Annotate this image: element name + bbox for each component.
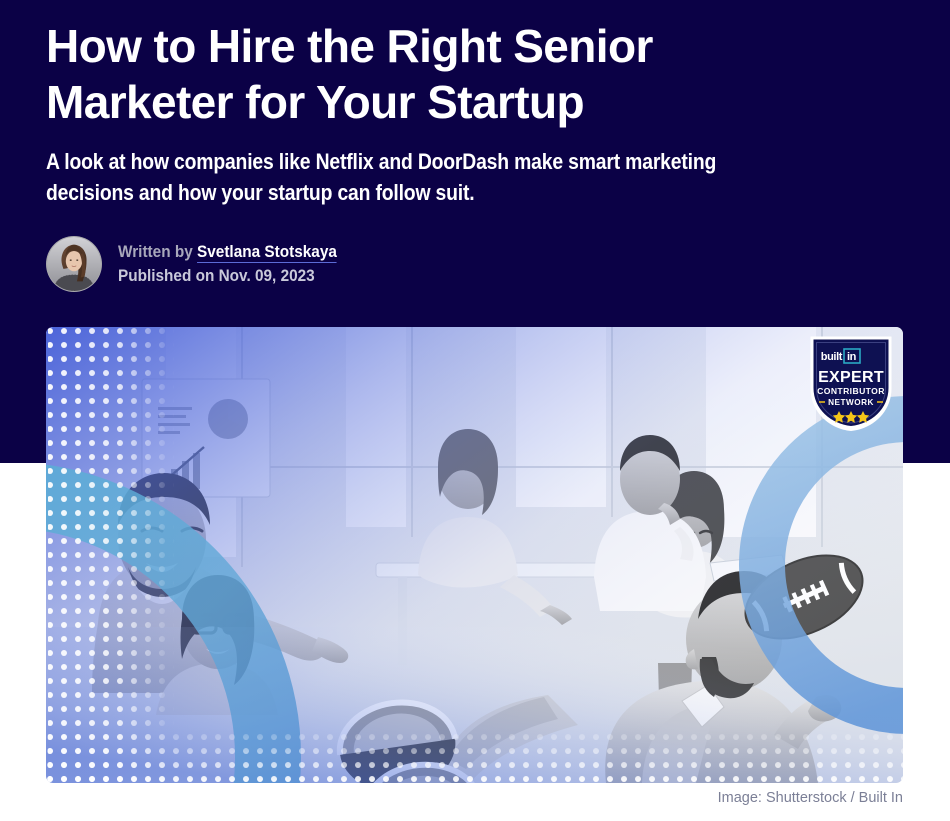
article-header: How to Hire the Right Senior Marketer fo… [0, 0, 950, 208]
svg-text:EXPERT: EXPERT [818, 369, 884, 386]
published-date: Published on Nov. 09, 2023 [118, 267, 315, 285]
byline-text: Written by Svetlana Stotskaya Published … [118, 242, 353, 287]
hero-image[interactable]: built in EXPERT CONTRIBUTOR NETWORK [46, 327, 903, 783]
author-link[interactable]: Svetlana Stotskaya [197, 243, 337, 263]
page-title: How to Hire the Right Senior Marketer fo… [46, 18, 776, 130]
byline-published-row: Published on Nov. 09, 2023 [118, 266, 337, 287]
expert-contributor-badge-icon: built in EXPERT CONTRIBUTOR NETWORK [809, 335, 893, 431]
svg-text:NETWORK: NETWORK [828, 398, 874, 407]
hero-figure: built in EXPERT CONTRIBUTOR NETWORK [46, 327, 903, 783]
svg-text:built: built [821, 351, 843, 363]
image-caption: Image: Shutterstock / Built In [46, 788, 903, 808]
byline-author-row: Written by Svetlana Stotskaya [118, 242, 337, 263]
article-subtitle: A look at how companies like Netflix and… [46, 146, 801, 208]
svg-text:CONTRIBUTOR: CONTRIBUTOR [817, 386, 885, 396]
svg-text:in: in [847, 351, 857, 363]
byline: Written by Svetlana Stotskaya Published … [46, 236, 353, 292]
avatar[interactable] [46, 236, 102, 292]
written-by-label: Written by [118, 243, 193, 261]
